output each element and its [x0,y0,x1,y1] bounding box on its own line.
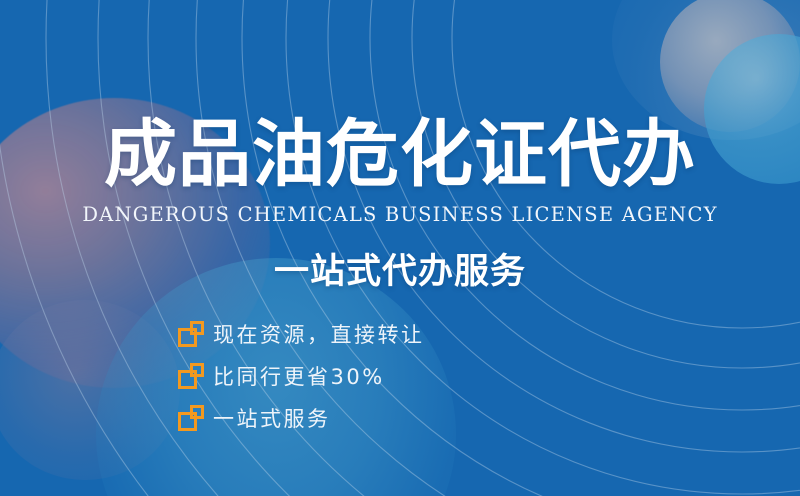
overlapping-squares-icon [178,363,204,389]
english-subtitle: DANGEROUS CHEMICALS BUSINESS LICENSE AGE… [0,203,800,226]
service-subtitle: 一站式代办服务 [0,243,800,294]
list-item: 现在资源，直接转让 [178,316,598,352]
promo-banner: 成品油危化证代办 DANGEROUS CHEMICALS BUSINESS LI… [0,0,800,496]
list-item: 比同行更省30% [178,358,598,394]
feature-label: 现在资源，直接转让 [213,319,425,349]
feature-label: 比同行更省30% [213,361,385,391]
overlapping-squares-icon [178,321,204,347]
page-title: 成品油危化证代办 [0,118,800,191]
feature-label: 一站式服务 [213,403,331,433]
banner-content: 成品油危化证代办 DANGEROUS CHEMICALS BUSINESS LI… [0,0,800,496]
overlapping-squares-icon [178,405,204,431]
feature-list: 现在资源，直接转让 比同行更省30% 一站式服务 [178,316,598,442]
list-item: 一站式服务 [178,400,598,436]
